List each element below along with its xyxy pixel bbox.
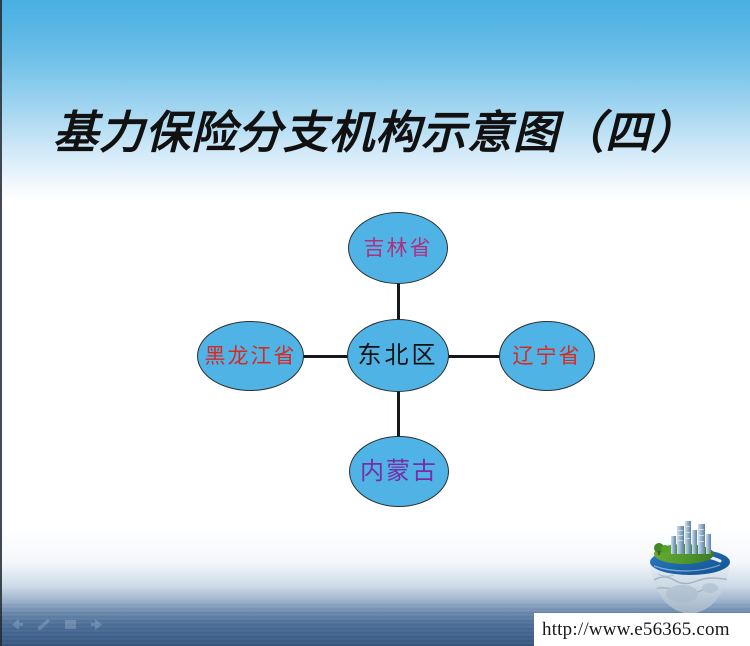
watermark-toolbar	[8, 617, 106, 632]
globe-city-logo	[634, 518, 746, 618]
node-northeast-region-label: 东北区	[358, 344, 439, 368]
node-jilin[interactable]: 吉林省	[348, 212, 448, 284]
website-url-text: http://www.e56365.com	[542, 619, 730, 641]
node-northeast-region[interactable]: 东北区	[347, 319, 449, 392]
node-inner-mongolia-label: 内蒙古	[360, 460, 438, 484]
node-jilin-label: 吉林省	[364, 238, 433, 259]
connector-center-to-left	[300, 355, 352, 358]
node-heilongjiang[interactable]: 黑龙江省	[197, 321, 304, 391]
connector-center-to-right	[446, 355, 503, 358]
pencil-icon	[35, 617, 52, 632]
node-inner-mongolia[interactable]: 内蒙古	[349, 436, 449, 507]
connector-center-to-bottom	[397, 389, 400, 437]
presentation-slide: 基力保险分支机构示意图（四） 吉林省 黑龙江省 东北区 辽宁省 内蒙古	[0, 0, 750, 646]
node-liaoning[interactable]: 辽宁省	[499, 321, 595, 391]
arrow-left-icon	[8, 617, 25, 632]
connector-center-to-top	[397, 283, 400, 323]
arrow-right-icon	[89, 617, 106, 632]
square-icon	[62, 617, 79, 632]
node-liaoning-label: 辽宁省	[513, 346, 582, 367]
node-heilongjiang-label: 黑龙江省	[205, 346, 297, 367]
website-url-label: http://www.e56365.com	[534, 613, 750, 646]
